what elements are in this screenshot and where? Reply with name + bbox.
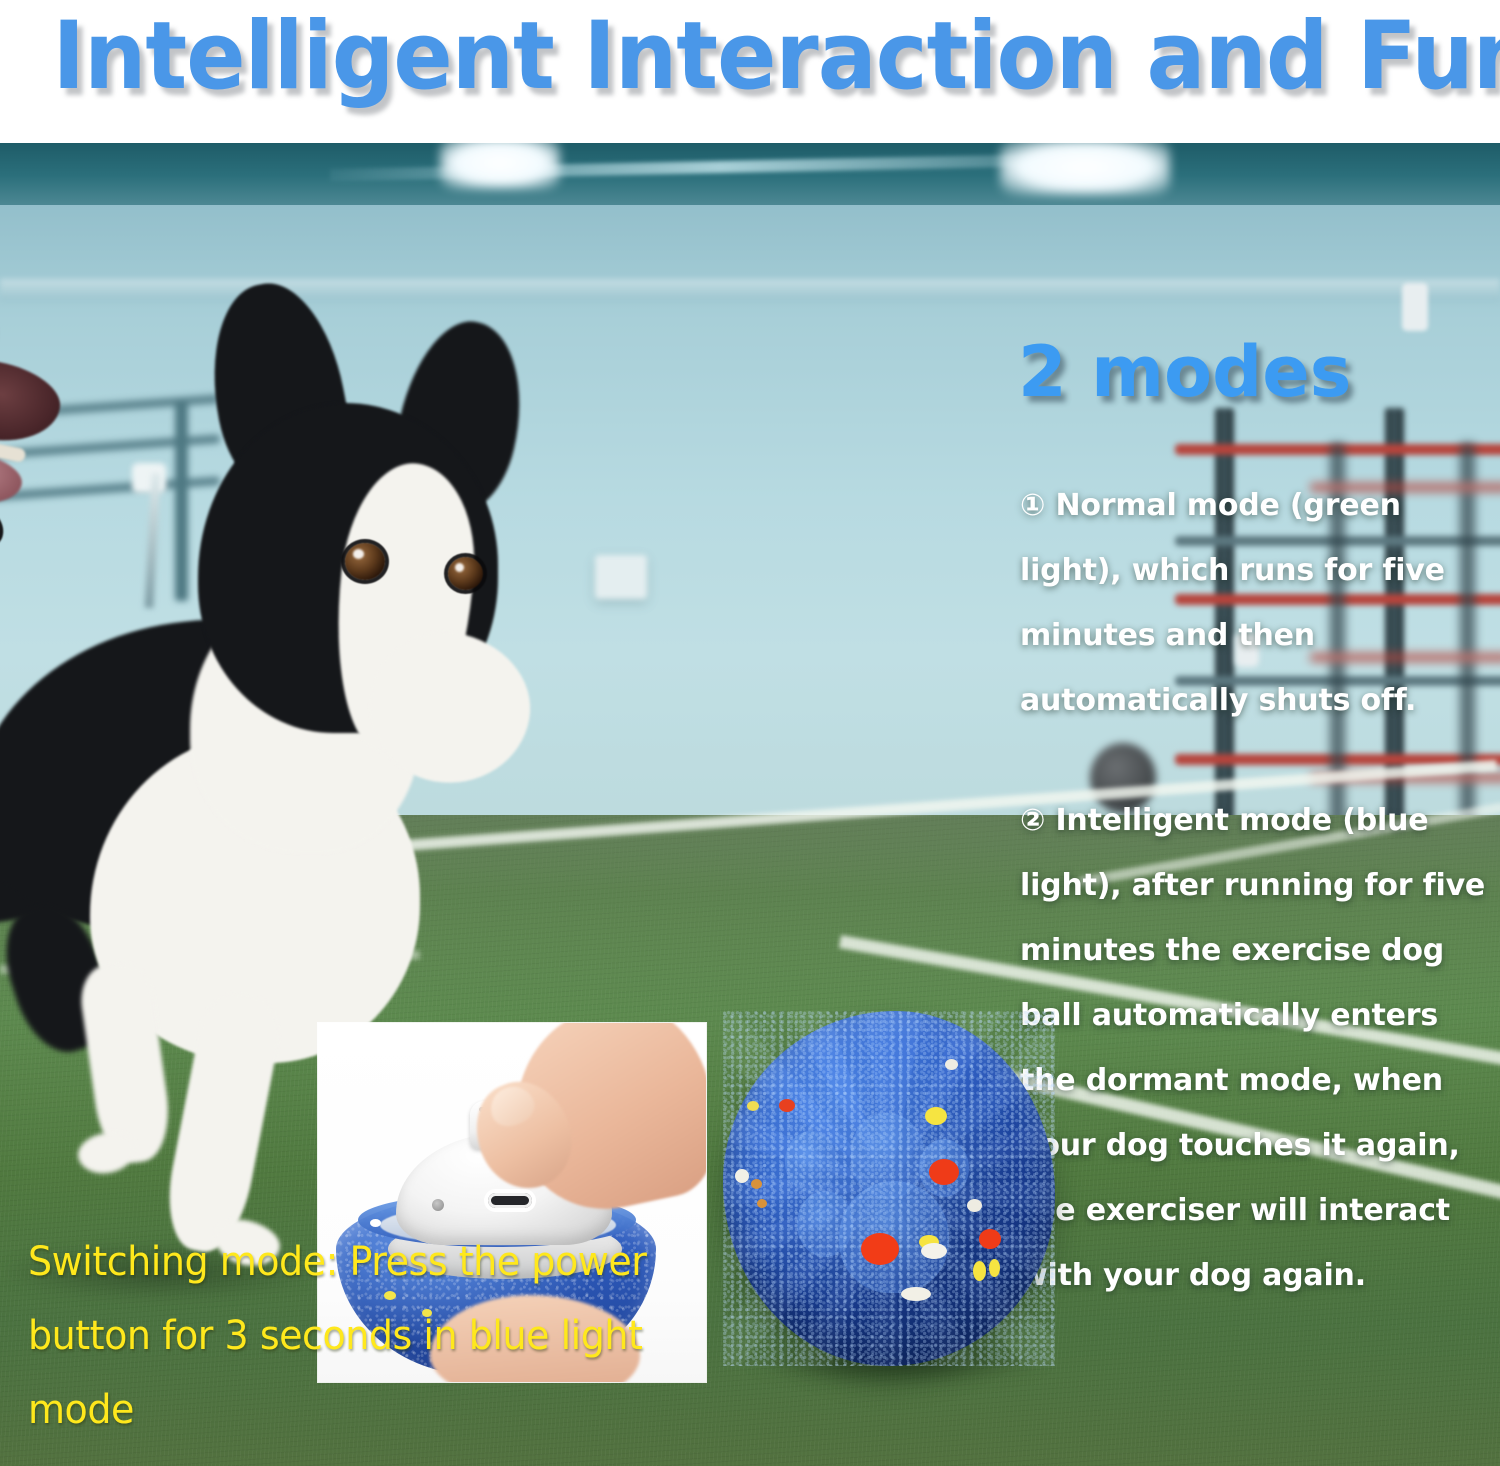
ball-foam-texture — [723, 1011, 1055, 1366]
ceiling-light-icon — [1000, 143, 1170, 195]
ball-speck — [751, 1179, 762, 1189]
screw-icon — [432, 1199, 444, 1211]
dog-eye-left — [345, 543, 385, 580]
ball-speck — [779, 1099, 795, 1112]
modes-heading: 2 modes — [1018, 333, 1351, 411]
ceiling-light-icon — [440, 143, 560, 189]
ball-speck — [979, 1229, 1001, 1249]
product-marketing-image: Intelligent Interaction and Fun — [0, 0, 1500, 1466]
ball-speck — [921, 1243, 947, 1259]
dog-nose — [0, 497, 8, 556]
ball-speck — [945, 1059, 958, 1070]
ball-speck — [747, 1101, 759, 1111]
ball-speck — [967, 1199, 982, 1212]
ball-speck — [735, 1169, 749, 1183]
dog-eye-right — [448, 557, 483, 590]
ball-speck — [925, 1107, 947, 1125]
mode-description-normal: ① Normal mode (green light), which runs … — [1020, 473, 1488, 733]
ball-speck — [929, 1159, 959, 1185]
usb-c-port-icon — [488, 1193, 532, 1208]
title-band: Intelligent Interaction and Fun — [0, 0, 1500, 143]
ball-speck — [989, 1259, 1000, 1277]
ball-speck — [973, 1261, 986, 1281]
product-ball — [723, 1011, 1055, 1366]
scene-photo: 2 modes ① Normal mode (green light), whi… — [0, 143, 1500, 1466]
dog-eye-glint — [353, 549, 364, 559]
dog-eye-glint — [455, 563, 464, 572]
ball-speck — [861, 1233, 899, 1265]
dog-mouth — [0, 352, 66, 451]
ball-speck — [757, 1199, 767, 1208]
ball-speck — [901, 1287, 931, 1301]
mode-description-intelligent: ② Intelligent mode (blue light), after r… — [1020, 788, 1488, 1308]
wall-sensor — [1402, 283, 1428, 331]
switching-mode-callout: Switching mode: Press the power button f… — [28, 1225, 693, 1447]
page-title: Intelligent Interaction and Fun — [53, 2, 1448, 112]
